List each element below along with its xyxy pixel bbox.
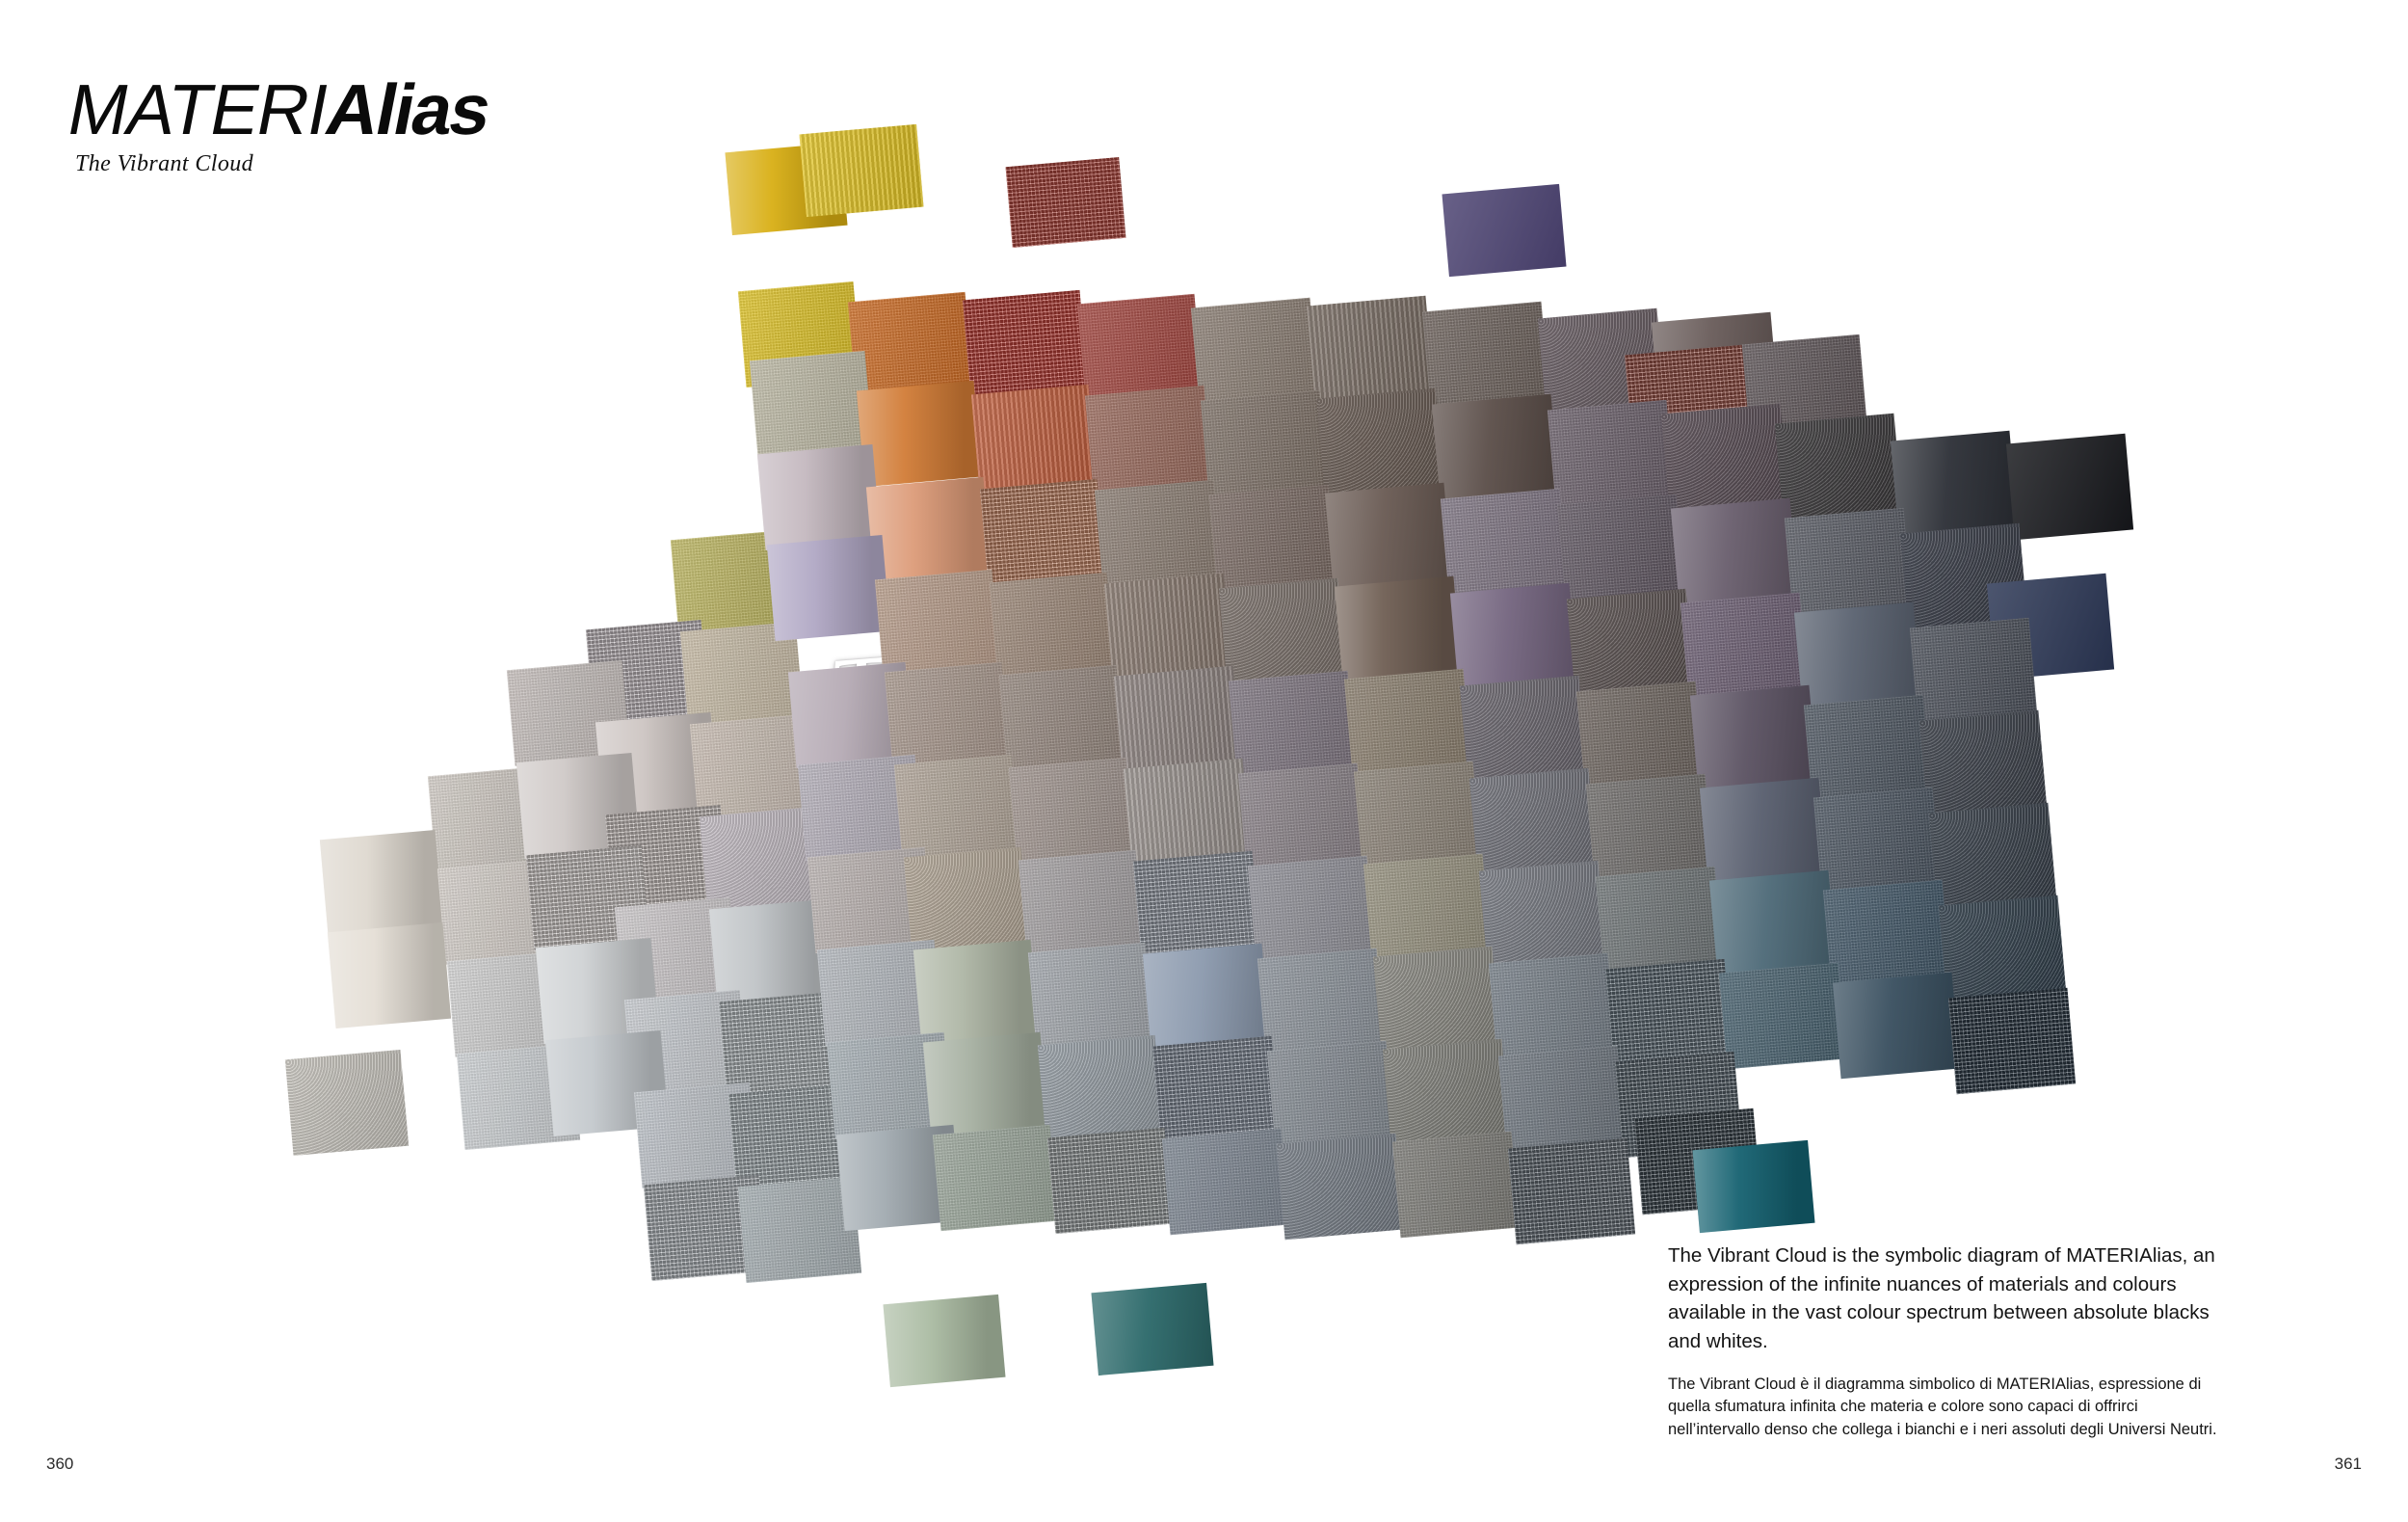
fabric-swatch [1804, 695, 1931, 801]
fabric-swatch [1680, 593, 1808, 699]
fabric-swatch [1133, 851, 1260, 957]
fabric-swatch [1257, 948, 1385, 1055]
fabric-swatch [1785, 508, 1912, 614]
fabric-swatch [1038, 1035, 1163, 1141]
fabric-swatch [1586, 774, 1713, 880]
fabric-swatch [963, 290, 1088, 396]
fabric-swatch [1605, 959, 1733, 1065]
logo-alias: Alias [320, 69, 496, 149]
fabric-swatch [1019, 850, 1144, 956]
fabric-swatch [1460, 676, 1587, 782]
fabric-swatch [1248, 856, 1375, 962]
fabric-swatch [1813, 788, 1941, 894]
fabric-swatch [980, 479, 1105, 585]
fabric-swatch [1709, 870, 1837, 976]
fabric-swatch [1939, 895, 2066, 1001]
caption-english: The Vibrant Cloud is the symbolic diagra… [1668, 1242, 2229, 1355]
fabric-swatch [1373, 947, 1500, 1053]
fabric-swatch [1095, 480, 1222, 586]
fabric-swatch [1392, 1132, 1520, 1238]
fabric-swatch [1823, 880, 1950, 986]
fabric-swatch [999, 665, 1125, 771]
fabric-swatch [1719, 963, 1846, 1069]
fabric-swatch [904, 847, 1029, 953]
fabric-swatch [883, 1295, 1005, 1387]
fabric-swatch [1442, 184, 1566, 277]
fabric-swatch [971, 385, 1097, 491]
fabric-swatch [1498, 1046, 1626, 1152]
fabric-swatch [1775, 414, 1902, 520]
fabric-swatch [1479, 861, 1606, 967]
fabric-swatch [1363, 854, 1491, 960]
fabric-swatch [1091, 1283, 1213, 1375]
fabric-swatch [1700, 778, 1827, 884]
fabric-swatch [1919, 710, 2047, 816]
fabric-swatch [750, 351, 873, 457]
fabric-swatch [1692, 1140, 1814, 1233]
magazine-spread: MATERIAlias The Vibrant Cloud Earth Tone… [0, 0, 2408, 1522]
fabric-swatch [1929, 803, 2056, 909]
fabric-swatch [894, 755, 1019, 861]
fabric-swatch [1508, 1138, 1635, 1244]
fabric-swatch [1335, 576, 1462, 682]
fabric-swatch [1006, 157, 1126, 248]
fabric-swatch [1191, 298, 1318, 404]
fabric-swatch [1009, 758, 1134, 864]
fabric-swatch [1441, 489, 1568, 595]
fabric-swatch [1229, 671, 1356, 777]
caption-italian: The Vibrant Cloud è il diagramma simboli… [1668, 1374, 2229, 1441]
fabric-swatch [1576, 681, 1704, 788]
fabric-swatch [320, 830, 443, 936]
fabric-swatch [1267, 1041, 1394, 1147]
masthead: MATERIAlias The Vibrant Cloud [69, 75, 489, 177]
fabric-swatch [1238, 763, 1365, 869]
fabric-swatch [1104, 574, 1231, 680]
fabric-swatch [1152, 1036, 1280, 1142]
fabric-swatch [1114, 666, 1241, 772]
fabric-swatch [1162, 1129, 1289, 1235]
fabric-swatch [285, 1050, 409, 1156]
fabric-swatch [1047, 1128, 1173, 1234]
fabric-swatch [1219, 578, 1346, 684]
brand-logo: MATERIAlias [63, 75, 495, 144]
fabric-swatch [990, 573, 1115, 679]
fabric-swatch [757, 444, 881, 550]
fabric-swatch [1948, 988, 2076, 1094]
fabric-swatch [1891, 431, 2018, 537]
fabric-swatch [1489, 953, 1616, 1059]
fabric-swatch [1124, 759, 1251, 865]
fabric-swatch [1567, 589, 1694, 695]
folio-left: 360 [46, 1455, 73, 1474]
fabric-swatch [857, 381, 982, 487]
fabric-swatch [1028, 943, 1153, 1049]
fabric-swatch [328, 922, 451, 1028]
fabric-swatch [933, 1125, 1058, 1231]
fabric-swatch [1277, 1134, 1404, 1240]
fabric-swatch [1833, 973, 1960, 1079]
caption-block: The Vibrant Cloud is the symbolic diagra… [1668, 1242, 2229, 1441]
fabric-swatch [1450, 583, 1577, 689]
fabric-swatch [1209, 485, 1336, 591]
fabric-swatch [767, 535, 890, 641]
fabric-swatch [1383, 1039, 1510, 1145]
fabric-swatch [1469, 768, 1597, 874]
fabric-swatch [1077, 294, 1203, 400]
fabric-swatch [2006, 434, 2133, 540]
fabric-swatch [1557, 494, 1684, 601]
fabric-swatch [885, 662, 1010, 768]
fabric-swatch [799, 124, 923, 217]
fabric-swatch [1201, 390, 1328, 496]
fabric-swatch [1085, 386, 1212, 492]
fabric-swatch [1307, 296, 1434, 402]
fabric-swatch [923, 1032, 1048, 1138]
folio-right: 361 [2335, 1455, 2362, 1474]
logo-materi: MATERI [62, 69, 335, 149]
fabric-swatch [913, 940, 1039, 1046]
fabric-swatch [1143, 944, 1270, 1050]
fabric-swatch [1344, 669, 1471, 775]
fabric-swatch [875, 570, 1000, 676]
fabric-swatch [1910, 618, 2037, 724]
fabric-swatch [1422, 302, 1549, 408]
fabric-swatch [1325, 483, 1452, 589]
fabric-swatch [1354, 761, 1481, 868]
fabric-swatch [1661, 404, 1788, 510]
fabric-swatch [1671, 498, 1798, 604]
masthead-subtitle: The Vibrant Cloud [75, 151, 489, 177]
fabric-swatch [1596, 867, 1723, 973]
fabric-swatch [1316, 388, 1443, 494]
fabric-swatch [1690, 685, 1817, 791]
fabric-swatch [1794, 602, 1921, 708]
fabric-swatch [1548, 400, 1675, 506]
fabric-swatch [1432, 394, 1559, 500]
